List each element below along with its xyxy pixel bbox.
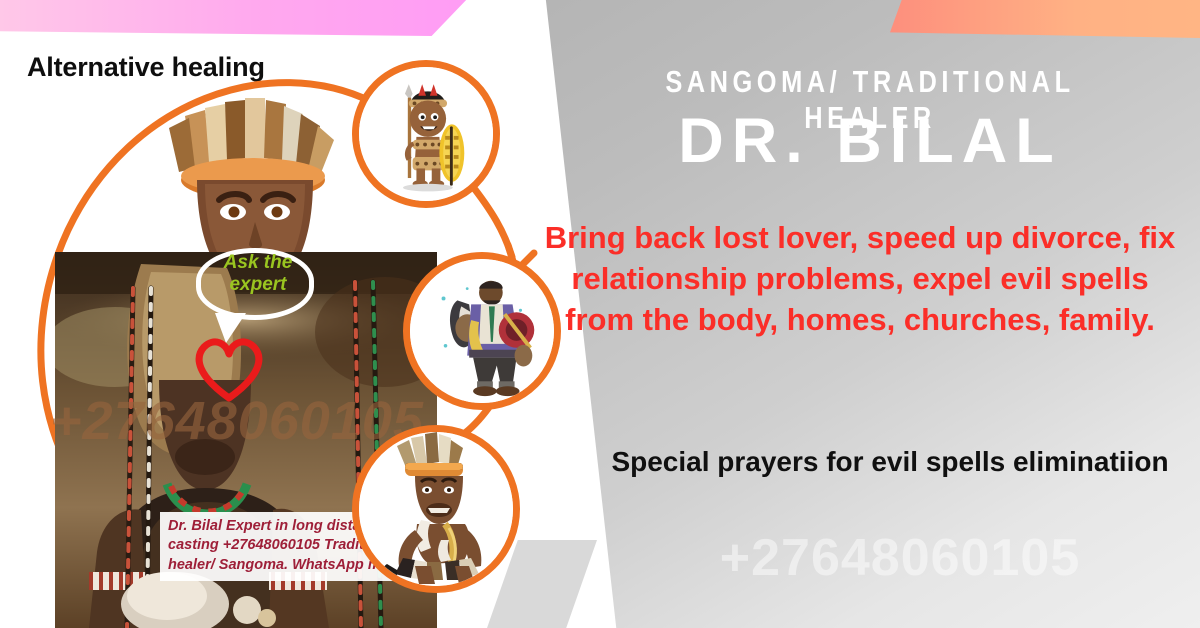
services-text: Bring back lost lover, speed up divorce,… [540,218,1180,341]
orange-accent-bar [890,0,1200,38]
speech-bubble-label: Ask the expert [206,252,310,297]
zulu-warrior-illustration [352,60,500,208]
phone-watermark: +27648060105 [600,528,1200,588]
poster-canvas: Alternative healing [0,0,1200,628]
traveling-healer-illustration [403,252,561,410]
brand-name: DR. BILAL [560,108,1180,174]
pink-accent-bar [0,0,470,36]
crouching-sangoma-illustration [352,425,520,593]
page-title: Alternative healing [27,52,265,83]
special-offer-text: Special prayers for evil spells eliminat… [600,443,1180,481]
red-heart-outline-icon [190,334,268,404]
